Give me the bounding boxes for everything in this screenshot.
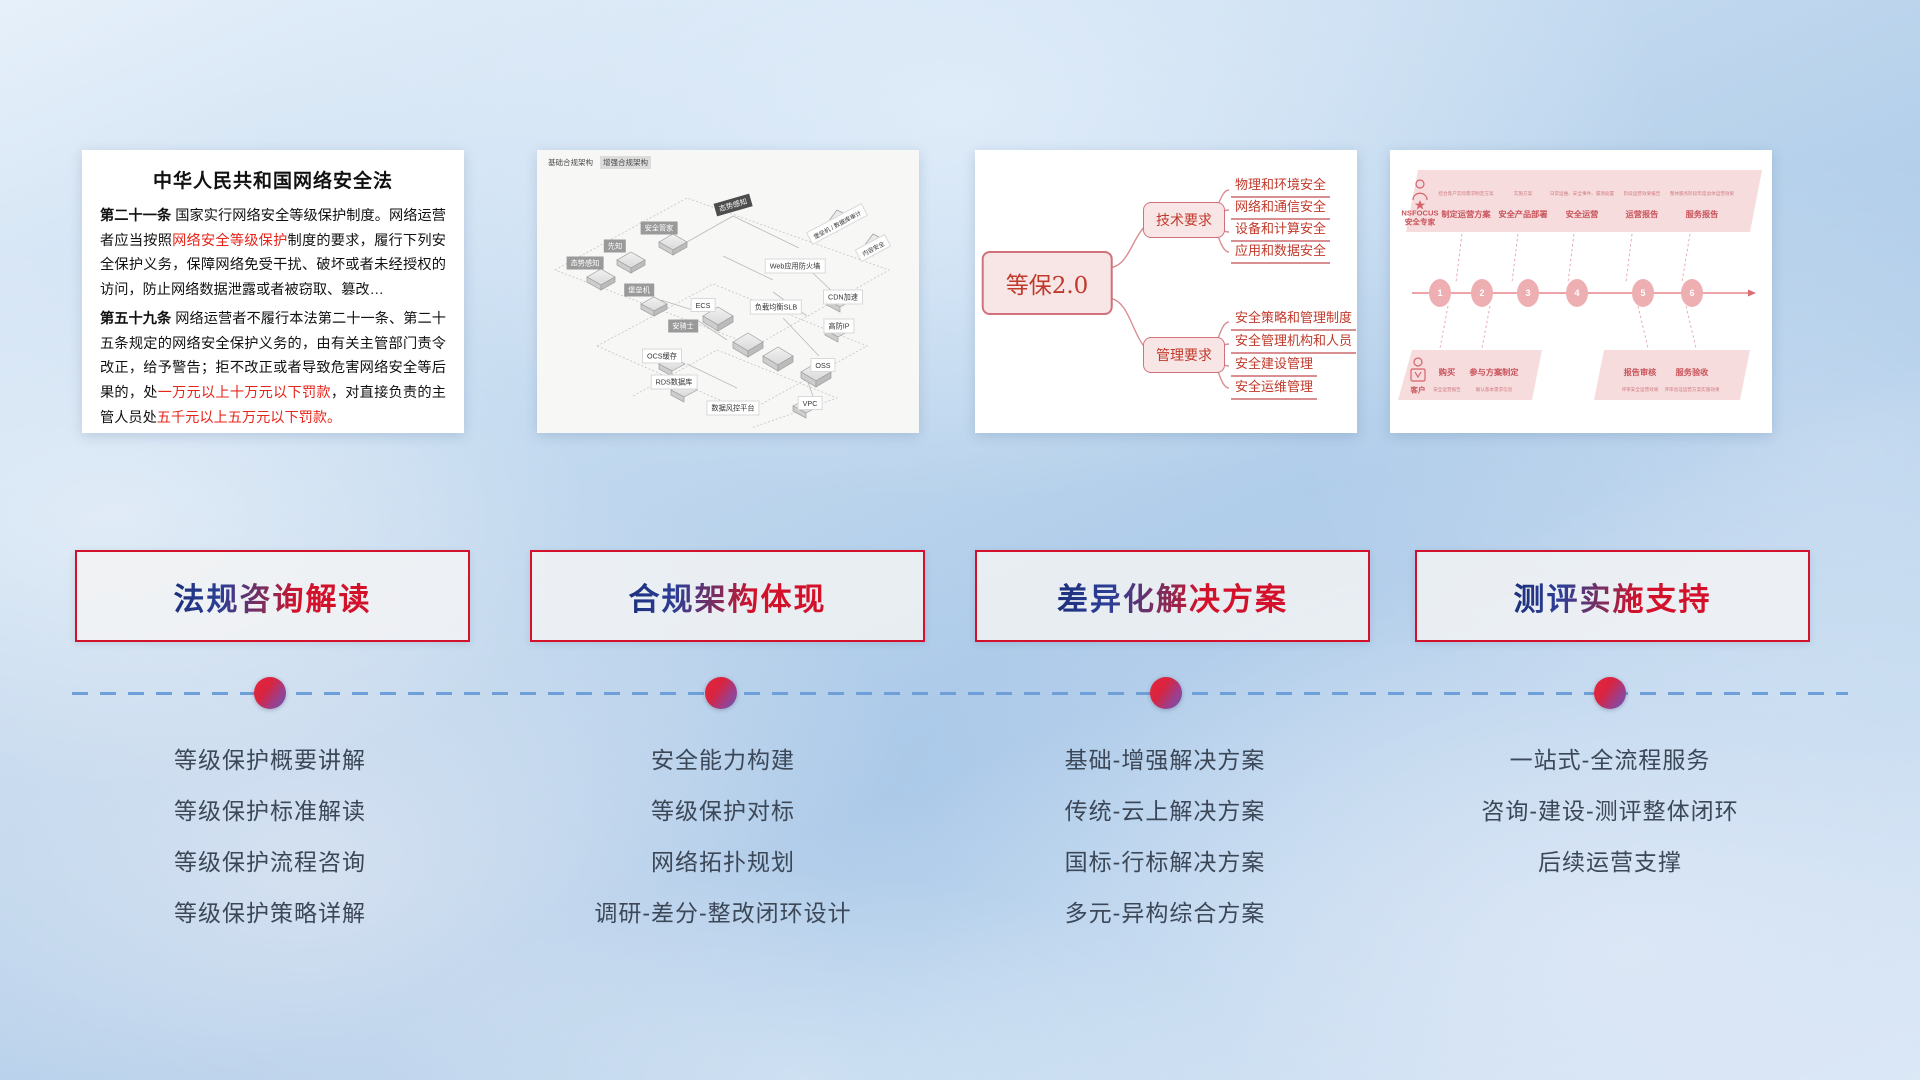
timeline-dot-2 [705, 677, 737, 709]
service-title-row: 法规咨询解读 合规架构体现 差异化解决方案 测评实施支持 [0, 550, 1920, 650]
nsfocus-process-chart: NSFOCUS 安全专家 结合客户实际需求制定方案 制定运营方案 实施方案 安全… [1390, 150, 1772, 433]
architecture-diagram: 基础合规架构 增强合规架构 [537, 150, 919, 433]
customer-step-1-sub: 安全运营报告 [1433, 387, 1461, 393]
list-item: 等级保护标准解读 [55, 786, 485, 837]
card-mindmap-dengbao: 等保2.0 技术要求 管理要求 物理和环境安全 网络和通信安全 设备和计算安全 … [975, 150, 1357, 433]
service-title-label-assessment: 测评实施支持 [1514, 574, 1712, 619]
expert-step-1-sub: 结合客户实际需求制定方案 [1438, 191, 1493, 197]
expert-step-5-main: 服务报告 [1686, 208, 1719, 220]
expert-step-4-main: 运营报告 [1626, 208, 1659, 220]
article-59-label: 第五十九条 [100, 311, 171, 327]
mindmap-leaf-app-data: 应用和数据安全 [1231, 240, 1330, 264]
expert-step-5-sub: 整体服务阶段年度总体运营效果 [1670, 191, 1734, 197]
node-label-slb: 负载均衡SLB [750, 300, 802, 315]
node-label-anqishi: 安骑士 [668, 320, 698, 333]
architecture-tab-basic[interactable]: 基础合规架构 [545, 156, 596, 169]
expert-step-3-main: 安全运营 [1566, 208, 1599, 220]
customer-step-4-sub: 评审验证运营方案实施效果 [1664, 387, 1719, 393]
step-number-1: 1 [1437, 288, 1442, 298]
customer-step-1-main: 购买 [1439, 366, 1455, 378]
node-label-cdn: CDN加速 [823, 290, 863, 305]
mindmap-leaf-network-comm: 网络和通信安全 [1231, 196, 1330, 220]
card-cybersecurity-law: 中华人民共和国网络安全法 第二十一条 国家实行网络安全等级保护制度。网络运营者应… [82, 150, 464, 433]
service-detail-list-architecture: 安全能力构建 等级保护对标 网络拓扑规划 调研-差分-整改闭环设计 [508, 735, 938, 939]
customer-step-2-sub: 确认基本需求信息 [1476, 387, 1513, 393]
list-item: 一站式-全流程服务 [1395, 735, 1825, 786]
list-item: 等级保护策略详解 [55, 888, 485, 939]
node-label-bastion-host: 堡垒机 [624, 284, 654, 297]
card-nsfocus-timeline: NSFOCUS 安全专家 结合客户实际需求制定方案 制定运营方案 实施方案 安全… [1390, 150, 1772, 433]
law-document: 中华人民共和国网络安全法 第二十一条 国家实行网络安全等级保护制度。网络运营者应… [82, 150, 464, 433]
node-label-risk-control: 数据风控平台 [706, 401, 759, 416]
list-item: 咨询-建设-测评整体闭环 [1395, 786, 1825, 837]
service-detail-row: 等级保护概要讲解 等级保护标准解读 等级保护流程咨询 等级保护策略详解 安全能力… [0, 735, 1920, 965]
law-title: 中华人民共和国网络安全法 [100, 166, 446, 193]
architecture-tab-list: 基础合规架构 增强合规架构 [545, 156, 651, 169]
step-number-4: 4 [1574, 288, 1579, 298]
node-label-security-steward: 安全管家 [641, 222, 678, 235]
article-21-label: 第二十一条 [100, 208, 171, 224]
list-item: 国标-行标解决方案 [950, 837, 1380, 888]
step-number-5: 5 [1640, 288, 1645, 298]
step-number-6: 6 [1689, 288, 1694, 298]
list-item: 多元-异构综合方案 [950, 888, 1380, 939]
article-59-highlight-2: 五千元以上五万元以下罚款。 [157, 410, 341, 426]
expert-step-2-main: 安全产品部署 [1498, 208, 1547, 220]
architecture-tab-enhanced[interactable]: 增强合规架构 [600, 156, 651, 169]
service-detail-list-solution: 基础-增强解决方案 传统-云上解决方案 国标-行标解决方案 多元-异构综合方案 [950, 735, 1380, 939]
list-item: 安全能力构建 [508, 735, 938, 786]
node-label-situational-awareness: 态势感知 [567, 257, 604, 270]
node-label-vpc: VPC [798, 396, 823, 410]
list-item: 调研-差分-整改闭环设计 [508, 888, 938, 939]
list-item: 传统-云上解决方案 [950, 786, 1380, 837]
service-title-box-regulation[interactable]: 法规咨询解读 [75, 550, 470, 642]
mindmap-leaf-org-personnel: 安全管理机构和人员 [1231, 330, 1356, 354]
mindmap-leaf-policy-system: 安全策略和管理制度 [1231, 307, 1356, 331]
service-title-box-architecture[interactable]: 合规架构体现 [530, 550, 925, 642]
expert-step-1-main: 制定运营方案 [1441, 208, 1490, 220]
service-title-label-regulation: 法规咨询解读 [174, 574, 372, 619]
law-article-59: 第五十九条 网络运营者不履行本法第二十一条、第二十五条规定的网络安全保护义务的，… [100, 307, 446, 431]
node-label-waf: Web应用防火墙 [765, 259, 826, 274]
timeline-dashed-line [72, 692, 1848, 695]
customer-label: 客户 [1410, 385, 1425, 396]
mindmap-leaf-construction-mgmt: 安全建设管理 [1231, 353, 1317, 377]
service-detail-list-assessment: 一站式-全流程服务 咨询-建设-测评整体闭环 后续运营支撑 [1395, 735, 1825, 888]
expert-step-4-sub: 阶段运营效果报告 [1624, 191, 1661, 197]
timeline-dot-3 [1150, 677, 1182, 709]
mindmap-branch-technical: 技术要求 [1143, 202, 1225, 238]
node-label-oss: OSS [810, 358, 835, 372]
illustration-card-row: 中华人民共和国网络安全法 第二十一条 国家实行网络安全等级保护制度。网络运营者应… [0, 150, 1920, 440]
timeline-dot-4 [1594, 677, 1626, 709]
customer-step-3-sub: 评审安全运营效果 [1622, 387, 1659, 393]
service-title-label-solution: 差异化解决方案 [1057, 574, 1288, 619]
customer-step-4-main: 服务验收 [1676, 366, 1709, 378]
timeline-dot-1 [254, 677, 286, 709]
customer-step-2-main: 参与方案制定 [1469, 366, 1518, 378]
step-number-3: 3 [1525, 288, 1530, 298]
service-detail-list-regulation: 等级保护概要讲解 等级保护标准解读 等级保护流程咨询 等级保护策略详解 [55, 735, 485, 939]
list-item: 网络拓扑规划 [508, 837, 938, 888]
mindmap-branch-management: 管理要求 [1143, 337, 1225, 373]
list-item: 等级保护对标 [508, 786, 938, 837]
article-21-highlight: 网络安全等级保护 [172, 233, 287, 249]
mindmap-leaf-operations-mgmt: 安全运维管理 [1231, 376, 1317, 400]
list-item: 基础-增强解决方案 [950, 735, 1380, 786]
node-label-ecs: ECS [691, 298, 716, 312]
expert-step-3-sub: 日常运维、安全事件、漏洞处置 [1550, 191, 1614, 197]
customer-step-3-main: 报告审核 [1624, 366, 1657, 378]
node-label-anti-ddos: 高防IP [823, 319, 854, 334]
service-title-box-solution[interactable]: 差异化解决方案 [975, 550, 1370, 642]
node-label-rds-database: RDS数据库 [651, 375, 698, 390]
step-number-2: 2 [1479, 288, 1484, 298]
service-title-label-architecture: 合规架构体现 [629, 574, 827, 619]
service-title-box-assessment[interactable]: 测评实施支持 [1415, 550, 1810, 642]
list-item: 等级保护流程咨询 [55, 837, 485, 888]
nsfocus-brand-line2: 安全专家 [1401, 218, 1438, 227]
node-label-xianzhi: 先知 [604, 240, 626, 253]
nsfocus-brand: NSFOCUS 安全专家 [1401, 209, 1438, 226]
card-cloud-architecture: 基础合规架构 增强合规架构 [537, 150, 919, 433]
mindmap-root-node: 等保2.0 [982, 251, 1113, 315]
article-59-highlight-1: 一万元以上十万元以下罚款 [158, 385, 331, 401]
mindmap-leaf-physical-env: 物理和环境安全 [1231, 174, 1330, 198]
law-article-21: 第二十一条 国家实行网络安全等级保护制度。网络运营者应当按照网络安全等级保护制度… [100, 204, 446, 303]
mindmap: 等保2.0 技术要求 管理要求 物理和环境安全 网络和通信安全 设备和计算安全 … [975, 150, 1357, 433]
node-label-ocs-cache: OCS缓存 [642, 349, 682, 364]
list-item: 等级保护概要讲解 [55, 735, 485, 786]
mindmap-leaf-device-compute: 设备和计算安全 [1231, 218, 1330, 242]
list-item: 后续运营支撑 [1395, 837, 1825, 888]
expert-step-2-sub: 实施方案 [1514, 191, 1532, 197]
